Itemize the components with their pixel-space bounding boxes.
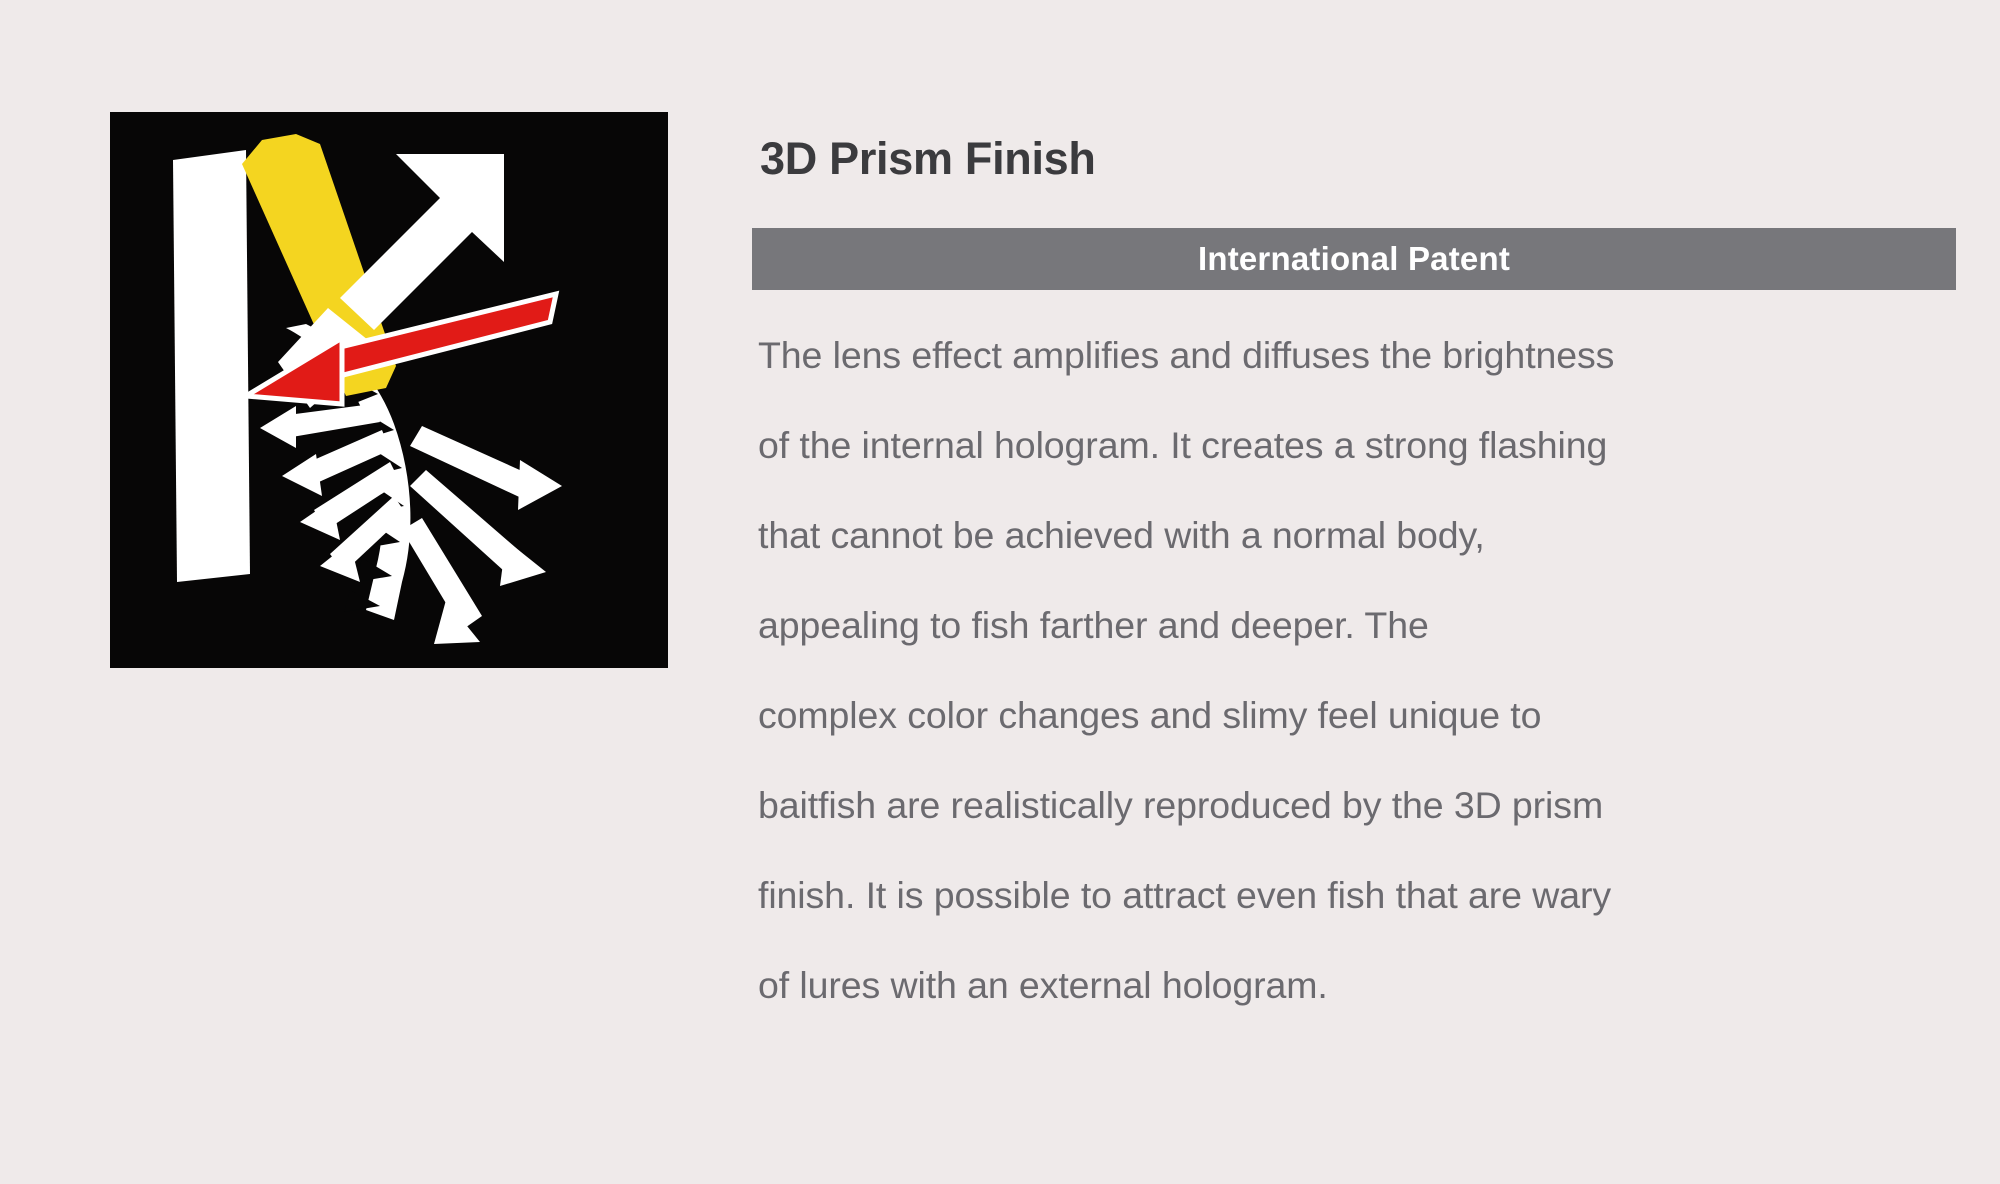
description-line: that cannot be achieved with a normal bo… — [758, 490, 1956, 580]
prism-light-diffusion-diagram — [110, 112, 668, 668]
status-badge: International Patent — [752, 228, 1956, 290]
description-line: finish. It is possible to attract even f… — [758, 850, 1956, 940]
description-line: of lures with an external hologram. — [758, 940, 1956, 1030]
vertical-white-bar-icon — [173, 150, 250, 582]
description-line: complex color changes and slimy feel uni… — [758, 670, 1956, 760]
description-paragraph: The lens effect amplifies and diffuses t… — [752, 310, 1956, 1030]
product-feature-section: 3D Prism Finish International Patent The… — [0, 0, 2000, 1184]
description-line: of the internal hologram. It creates a s… — [758, 400, 1956, 490]
patent-banner-label: International Patent — [1198, 240, 1510, 278]
description-line: The lens effect amplifies and diffuses t… — [758, 310, 1956, 400]
description-line: appealing to fish farther and deeper. Th… — [758, 580, 1956, 670]
page-title: 3D Prism Finish — [752, 112, 1956, 184]
white-arrow-fan-right-icon — [402, 426, 562, 644]
feature-content: 3D Prism Finish International Patent The… — [752, 112, 1956, 1030]
description-line: baitfish are realistically reproduced by… — [758, 760, 1956, 850]
prism-diagram-panel — [110, 112, 668, 668]
